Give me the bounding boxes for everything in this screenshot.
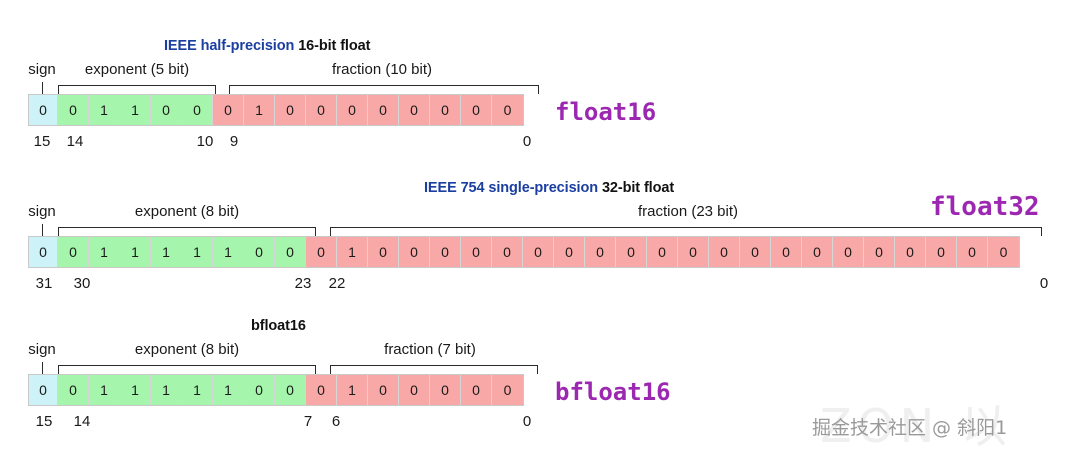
bit-cell-fraction: 0 (399, 375, 430, 405)
format-block-bfloat16: bfloat16 sign exponent (8 bit) fraction … (0, 0, 1080, 440)
bit-cell-exponent: 1 (120, 375, 151, 405)
bfloat16-fraction-caption: fraction (7 bit) (384, 341, 476, 358)
bit-cell-exponent: 1 (151, 375, 182, 405)
bfloat16-sign-caption: sign (28, 341, 56, 358)
bit-cell-fraction: 0 (430, 375, 461, 405)
bit-cell-sign: 0 (29, 375, 58, 405)
bfloat16-index-exp-high: 14 (74, 413, 91, 430)
bit-cell-exponent: 1 (182, 375, 213, 405)
bit-cell-fraction: 0 (461, 375, 492, 405)
bit-cell-exponent: 1 (89, 375, 120, 405)
bit-cell-exponent: 1 (213, 375, 244, 405)
diagram-canvas: IEEE half-precision 16-bit float sign ex… (0, 0, 1080, 454)
bit-cell-exponent: 0 (58, 375, 89, 405)
bit-cell-exponent: 0 (244, 375, 275, 405)
bfloat16-exponent-caption: exponent (8 bit) (135, 341, 239, 358)
bfloat16-title: bfloat16 (251, 318, 306, 334)
bfloat16-index-frac-high: 6 (332, 413, 340, 430)
bfloat16-bit-strip: 0 0 1 1 1 1 1 0 0 0 1 0 0 0 0 0 (28, 374, 524, 406)
bfloat16-fraction-bracket (330, 365, 538, 374)
bit-cell-fraction: 0 (492, 375, 523, 405)
bfloat16-title-black: bfloat16 (251, 318, 306, 334)
bfloat16-index-exp-low: 7 (304, 413, 312, 430)
bit-cell-exponent: 0 (275, 375, 306, 405)
bit-cell-fraction: 0 (368, 375, 399, 405)
bfloat16-typename: bfloat16 (555, 378, 671, 406)
watermark-text: 掘金技术社区 @ 斜阳1 (812, 413, 1007, 440)
bit-cell-fraction: 0 (306, 375, 337, 405)
bfloat16-exponent-bracket (58, 365, 316, 374)
bfloat16-index-sign: 15 (36, 413, 53, 430)
bfloat16-index-frac-low: 0 (523, 413, 531, 430)
bfloat16-sign-tick (42, 362, 43, 374)
bit-cell-fraction: 1 (337, 375, 368, 405)
